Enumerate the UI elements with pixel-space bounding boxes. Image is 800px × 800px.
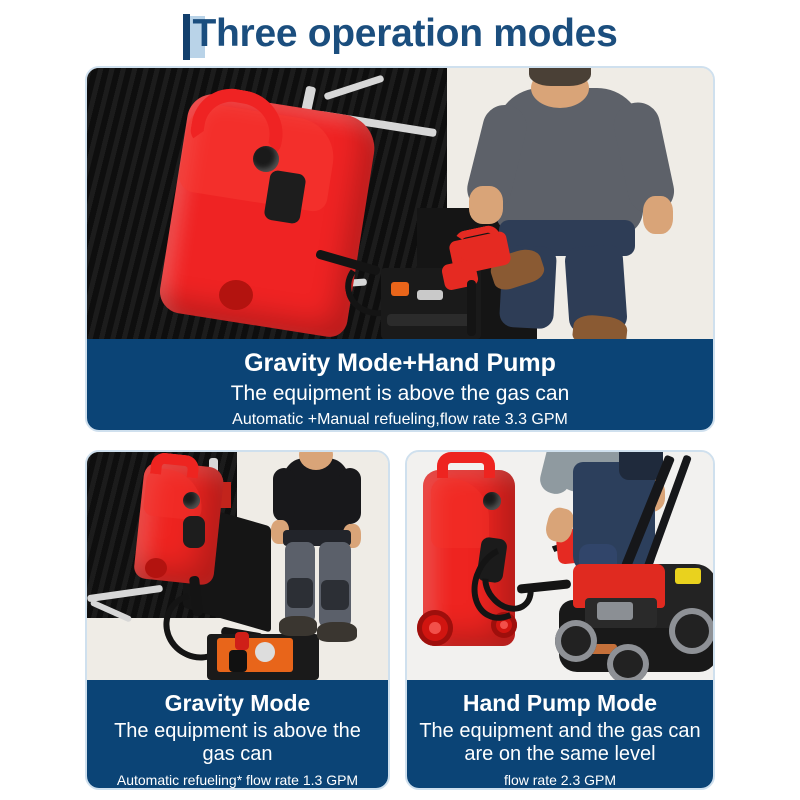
- card-title: Gravity Mode: [97, 690, 378, 716]
- photo-hand-pump-mode: [407, 452, 713, 680]
- card-title: Hand Pump Mode: [417, 690, 703, 716]
- card-note: Automatic refueling* flow rate 1.3 GPM: [97, 772, 378, 789]
- caption-hand-pump-mode: Hand Pump Mode The equipment and the gas…: [407, 680, 713, 790]
- mode-card-hand-pump-mode: Hand Pump Mode The equipment and the gas…: [405, 450, 715, 790]
- mode-card-gravity-hand-pump: Gravity Mode+Hand Pump The equipment is …: [85, 66, 715, 432]
- photo-gravity-mode: [87, 452, 388, 680]
- photo-gravity-hand-pump: [87, 68, 713, 339]
- mode-card-gravity-mode: Gravity Mode The equipment is above the …: [85, 450, 390, 790]
- card-subtitle: The equipment is above the gas can: [97, 382, 703, 406]
- page-title: Three operation modes: [183, 12, 618, 56]
- page-header: Three operation modes: [0, 0, 800, 68]
- card-note: Automatic +Manual refueling,flow rate 3.…: [97, 410, 703, 429]
- card-subtitle: The equipment is above the gas can: [97, 720, 378, 766]
- card-title: Gravity Mode+Hand Pump: [97, 349, 703, 378]
- title-wrap: Three operation modes: [183, 12, 618, 56]
- caption-gravity-mode: Gravity Mode The equipment is above the …: [87, 680, 388, 790]
- card-subtitle: The equipment and the gas can are on the…: [417, 720, 703, 766]
- caption-gravity-hand-pump: Gravity Mode+Hand Pump The equipment is …: [87, 339, 713, 432]
- infographic-page: Three operation modes: [0, 0, 800, 800]
- card-note: flow rate 2.3 GPM: [417, 772, 703, 789]
